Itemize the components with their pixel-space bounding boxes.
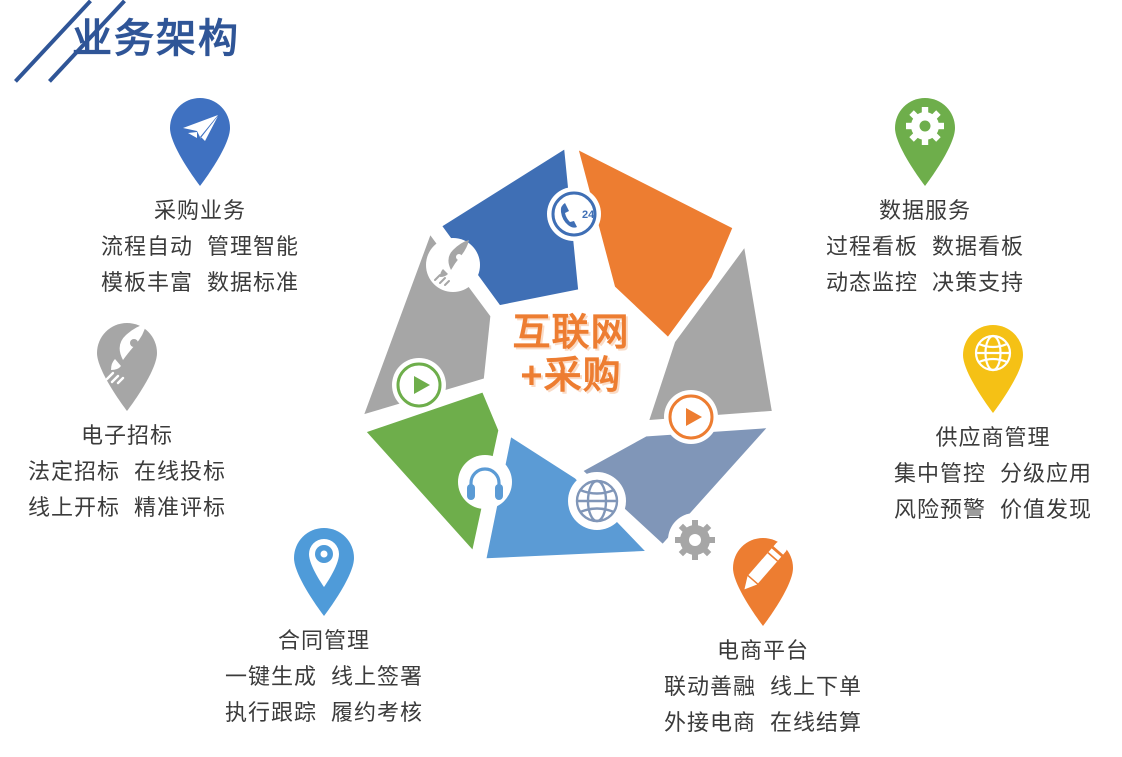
card-line-1-a: 过程看板 <box>826 234 918 259</box>
card-line-2-a: 模板丰富 <box>101 270 193 295</box>
card-line-2: 执行跟踪履约考核 <box>225 695 423 727</box>
card-line-1-a: 一键生成 <box>225 664 317 689</box>
card-line-1-b: 在线投标 <box>134 459 226 484</box>
card-line-2-b: 数据标准 <box>207 270 299 295</box>
card-title: 数据服务 <box>879 193 971 225</box>
play-icon <box>664 390 718 444</box>
card-line-2-b: 精准评标 <box>134 495 226 520</box>
card-line-1-b: 管理智能 <box>207 234 299 259</box>
card-line-1-a: 集中管控 <box>894 461 986 486</box>
card-line-2-b: 决策支持 <box>932 270 1024 295</box>
card-line-2-a: 外接电商 <box>664 710 756 735</box>
card-line-2: 线上开标精准评标 <box>28 490 226 522</box>
card-bidding[interactable]: 电子招标 法定招标在线投标 线上开标精准评标 <box>0 320 277 522</box>
headphones-icon <box>458 455 512 509</box>
card-line-1: 法定招标在线投标 <box>28 454 226 486</box>
card-line-1-b: 分级应用 <box>1000 461 1092 486</box>
svg-text:24: 24 <box>582 209 595 221</box>
pin-ecommerce <box>729 535 797 627</box>
card-line-2-a: 风险预警 <box>894 497 986 522</box>
card-line-1-a: 流程自动 <box>101 234 193 259</box>
gear-icon <box>906 107 944 145</box>
card-procurement[interactable]: 采购业务 流程自动管理智能 模板丰富数据标准 <box>50 95 350 297</box>
pin-data-service <box>891 95 959 187</box>
card-contract[interactable]: 合同管理 一键生成线上签署 执行跟踪履约考核 <box>174 525 474 727</box>
card-line-1: 流程自动管理智能 <box>101 229 299 261</box>
card-line-1: 集中管控分级应用 <box>894 456 1092 488</box>
slide-header: 业务架构 <box>0 0 1122 80</box>
rocket-icon <box>426 238 480 292</box>
card-ecommerce[interactable]: 电商平台 联动善融线上下单 外接电商在线结算 <box>613 535 913 737</box>
card-line-2-b: 在线结算 <box>770 710 862 735</box>
pin-procurement <box>166 95 234 187</box>
page-title: 业务架构 <box>72 6 240 64</box>
card-line-1-b: 线上下单 <box>770 674 862 699</box>
card-line-1-b: 数据看板 <box>932 234 1024 259</box>
card-line-2: 动态监控决策支持 <box>826 265 1024 297</box>
card-line-1-a: 联动善融 <box>664 674 756 699</box>
card-line-2-a: 执行跟踪 <box>225 700 317 725</box>
card-line-2: 风险预警价值发现 <box>894 492 1092 524</box>
pin-supplier <box>959 322 1027 414</box>
card-line-2: 外接电商在线结算 <box>664 705 862 737</box>
card-line-2-b: 履约考核 <box>331 700 423 725</box>
card-line-1: 联动善融线上下单 <box>664 669 862 701</box>
card-supplier-management[interactable]: 供应商管理 集中管控分级应用 风险预警价值发现 <box>843 322 1122 524</box>
card-title: 采购业务 <box>154 193 246 225</box>
card-title: 合同管理 <box>278 623 370 655</box>
globe-icon <box>568 472 626 530</box>
pin-bidding <box>93 320 161 412</box>
card-title: 供应商管理 <box>935 420 1050 452</box>
card-title: 电子招标 <box>81 418 173 450</box>
play-icon <box>392 358 446 412</box>
pinwheel-diagram: 24 <box>333 125 803 575</box>
card-line-1-b: 线上签署 <box>331 664 423 689</box>
business-architecture-slide: 业务架构 <box>0 0 1122 757</box>
card-title: 电商平台 <box>717 633 809 665</box>
card-line-1-a: 法定招标 <box>28 459 120 484</box>
card-line-2-a: 线上开标 <box>28 495 120 520</box>
card-line-2-a: 动态监控 <box>826 270 918 295</box>
card-line-2-b: 价值发现 <box>1000 497 1092 522</box>
card-data-service[interactable]: 数据服务 过程看板数据看板 动态监控决策支持 <box>775 95 1075 297</box>
card-line-2: 模板丰富数据标准 <box>101 265 299 297</box>
phone-24h-icon: 24 <box>547 187 601 241</box>
card-line-1: 过程看板数据看板 <box>826 229 1024 261</box>
map-pin-shape <box>170 98 230 186</box>
card-line-1: 一键生成线上签署 <box>225 659 423 691</box>
pin-contract <box>290 525 358 617</box>
